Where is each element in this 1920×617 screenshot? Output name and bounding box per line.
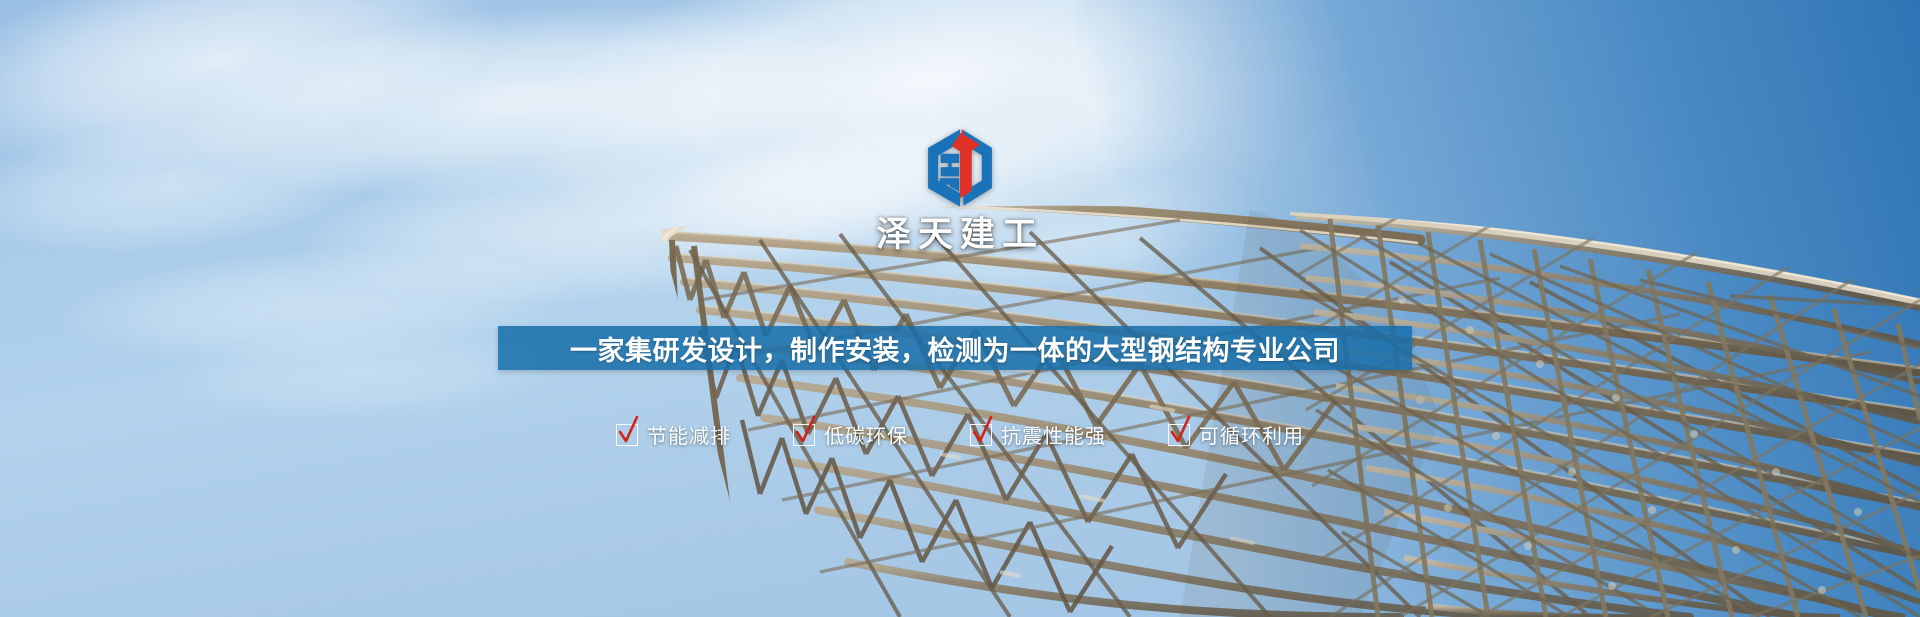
- feature-item: 节能减排: [616, 420, 731, 449]
- checkmark-icon: [1168, 424, 1190, 446]
- feature-label: 可循环利用: [1199, 420, 1304, 449]
- feature-item: 可循环利用: [1168, 420, 1304, 449]
- checkmark-icon: [793, 424, 815, 446]
- brand-block: 泽天建工: [0, 126, 1920, 255]
- company-name: 泽天建工: [0, 216, 1920, 255]
- tagline-text: 一家集研发设计，制作安装，检测为一体的大型钢结构专业公司: [570, 329, 1340, 368]
- feature-list: 节能减排 低碳环保 抗震性能强 可循环利: [0, 420, 1920, 449]
- tagline-banner: 一家集研发设计，制作安装，检测为一体的大型钢结构专业公司: [498, 326, 1412, 370]
- feature-label: 抗震性能强: [1001, 420, 1106, 449]
- checkmark-icon: [616, 424, 638, 446]
- feature-label: 低碳环保: [824, 420, 908, 449]
- deep-sky-gradient: [1075, 0, 1920, 617]
- hero-banner: 泽天建工 一家集研发设计，制作安装，检测为一体的大型钢结构专业公司 节能减排 低…: [0, 0, 1920, 617]
- feature-item: 低碳环保: [793, 420, 908, 449]
- checkmark-icon: [970, 424, 992, 446]
- feature-item: 抗震性能强: [970, 420, 1106, 449]
- hexagon-zt-monogram-icon[interactable]: [918, 126, 1002, 210]
- feature-label: 节能减排: [647, 420, 731, 449]
